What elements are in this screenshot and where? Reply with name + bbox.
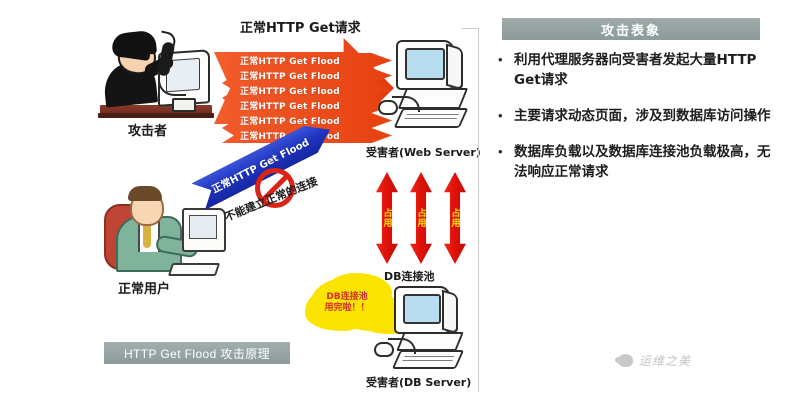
diagram-title-banner-label: HTTP Get Flood 攻击原理 — [124, 345, 270, 362]
callout-text: DB连接池 用完啦！！ — [310, 278, 384, 328]
web-server-illustration — [388, 40, 474, 144]
list-item-text: 利用代理服务器向受害者发起大量HTTP Get请求 — [514, 50, 782, 90]
list-item: • 数据库负载以及数据库连接池负载极高，无法响应正常请求 — [496, 142, 782, 182]
db-server-label: 受害者(DB Server) — [366, 374, 471, 390]
db-server-illustration — [384, 286, 474, 374]
desk-edge — [98, 113, 214, 118]
callout-line-1: DB连接池 — [326, 292, 367, 303]
db-server-monitor-side — [442, 290, 458, 335]
flood-band: 正常HTTP Get Flood — [222, 53, 392, 68]
list-item-text: 数据库负载以及数据库连接池负载极高，无法响应正常请求 — [514, 142, 782, 182]
db-pool-exhausted-callout: DB连接池 用完啦！！ — [310, 278, 384, 328]
panel-header: 攻击表象 — [502, 18, 760, 40]
callout-line-2: 用完啦！！ — [324, 303, 369, 314]
occupy-label: 占用 — [449, 208, 462, 228]
keyboard-keys — [403, 114, 459, 122]
user-hair — [128, 186, 162, 201]
web-server-monitor-side — [446, 44, 463, 91]
vertical-divider — [478, 28, 479, 392]
attacker-monitor-stand — [172, 98, 196, 112]
normal-user-label: 正常用户 — [118, 278, 170, 297]
bullet-marker-icon: • — [496, 50, 514, 70]
list-item: • 利用代理服务器向受害者发起大量HTTP Get请求 — [496, 50, 782, 90]
signal-wave-icon — [159, 30, 178, 47]
watermark-logo-icon — [618, 354, 633, 367]
flood-band: 正常HTTP Get Flood — [222, 83, 392, 98]
watermark-text: 运维之美 — [639, 352, 691, 369]
occupy-label: 占用 — [415, 208, 428, 228]
attacker-illustration — [96, 26, 216, 122]
flood-band-label: 正常HTTP Get Flood — [222, 69, 340, 82]
attacker-label: 攻击者 — [128, 120, 167, 139]
db-pool-occupy-arrow: 占用 — [444, 172, 466, 264]
attack-symptoms-list: • 利用代理服务器向受害者发起大量HTTP Get请求 • 主要请求动态页面，涉… — [496, 50, 782, 198]
flood-band-label: 正常HTTP Get Flood — [222, 84, 340, 97]
occupy-label: 占用 — [381, 208, 394, 228]
slide-canvas: 正常HTTP Get请求 攻击者 正常HTTP Get Flood 正常HTTP… — [0, 0, 788, 400]
bullet-marker-icon: • — [496, 142, 514, 162]
db-pool-occupy-arrow: 占用 — [376, 172, 398, 264]
watermark: 运维之美 — [618, 352, 691, 369]
panel-header-title: 攻击表象 — [601, 20, 661, 39]
flood-band-label: 正常HTTP Get Flood — [222, 54, 340, 67]
list-item: • 主要请求动态页面，涉及到数据库访问操作 — [496, 106, 782, 126]
divider-tick — [462, 28, 479, 29]
bullet-marker-icon: • — [496, 106, 514, 126]
db-pool-label: DB连接池 — [384, 268, 435, 284]
get-request-title: 正常HTTP Get请求 — [240, 17, 361, 36]
web-server-screen — [405, 48, 445, 80]
flood-band-label: 正常HTTP Get Flood — [222, 99, 340, 112]
db-pool-occupy-arrow: 占用 — [410, 172, 432, 264]
web-server-label: 受害者(Web Server) — [366, 144, 481, 160]
diagram-title-banner: HTTP Get Flood 攻击原理 — [104, 342, 290, 364]
list-item-text: 主要请求动态页面，涉及到数据库访问操作 — [514, 106, 771, 126]
user-keyboard — [168, 263, 220, 276]
db-server-screen — [403, 294, 441, 324]
flood-band: 正常HTTP Get Flood — [222, 68, 392, 83]
keyboard-keys — [401, 356, 454, 363]
